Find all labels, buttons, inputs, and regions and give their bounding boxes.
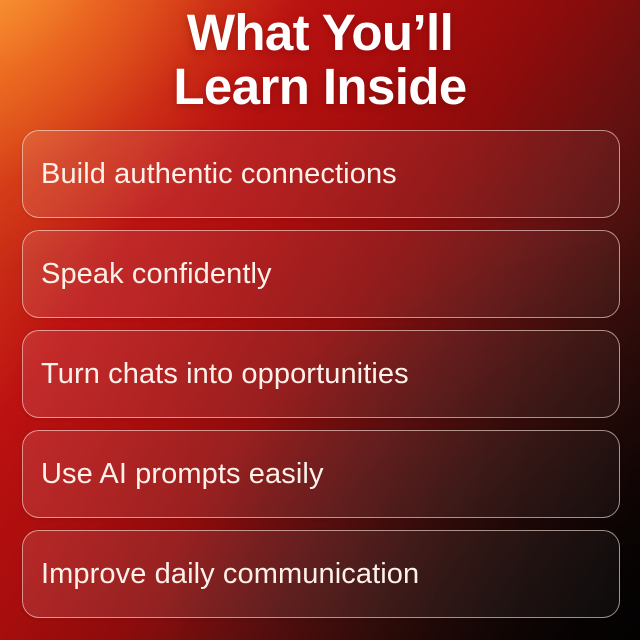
benefit-card-label: Build authentic connections [41,158,397,191]
page-title: What You’ll Learn Inside [0,6,640,114]
benefit-card-label: Turn chats into opportunities [41,358,409,391]
benefit-card-label: Improve daily communication [41,558,419,591]
benefit-card-4[interactable]: Use AI prompts easily [22,430,620,518]
benefit-card-label: Use AI prompts easily [41,458,324,491]
benefit-card-5[interactable]: Improve daily communication [22,530,620,618]
page-title-line-1: What You’ll [0,6,640,60]
benefit-card-label: Speak confidently [41,258,272,291]
page-title-line-2: Learn Inside [0,60,640,114]
promo-poster: What You’ll Learn Inside Build authentic… [0,0,640,640]
benefit-card-3[interactable]: Turn chats into opportunities [22,330,620,418]
benefit-card-1[interactable]: Build authentic connections [22,130,620,218]
benefit-card-2[interactable]: Speak confidently [22,230,620,318]
benefit-card-list: Build authentic connections Speak confid… [22,130,620,618]
